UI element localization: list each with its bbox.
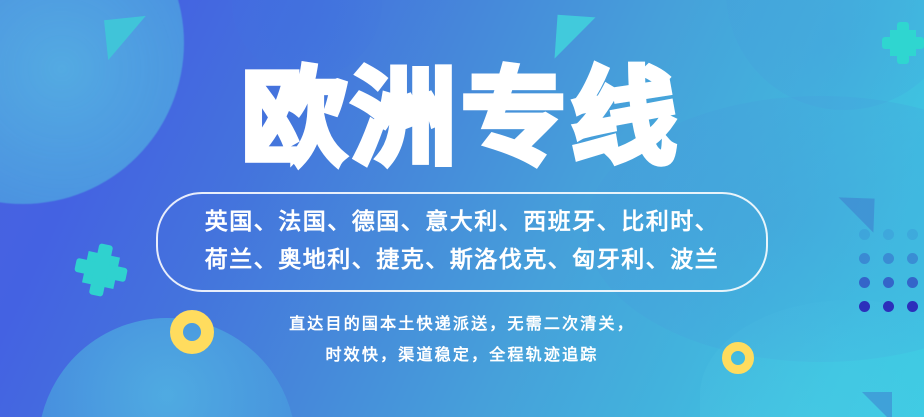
banner-tagline: 直达目的国本土快递派送，无需二次清关， 时效快，渠道稳定，全程轨迹追踪 (289, 309, 635, 371)
banner-content: 欧洲专线 英国、法国、德国、意大利、西班牙、比利时、 荷兰、奥地利、捷克、斯洛伐… (0, 0, 924, 417)
tagline-line-2: 时效快，渠道稳定，全程轨迹追踪 (289, 340, 635, 371)
europe-line-banner: 欧洲专线 英国、法国、德国、意大利、西班牙、比利时、 荷兰、奥地利、捷克、斯洛伐… (0, 0, 924, 417)
country-list-line-1: 英国、法国、德国、意大利、西班牙、比利时、 (205, 203, 720, 241)
country-list-line-2: 荷兰、奥地利、捷克、斯洛伐克、匈牙利、波兰 (205, 241, 720, 279)
banner-title: 欧洲专线 (242, 66, 682, 170)
country-list-box: 英国、法国、德国、意大利、西班牙、比利时、 荷兰、奥地利、捷克、斯洛伐克、匈牙利… (156, 192, 768, 292)
tagline-line-1: 直达目的国本土快递派送，无需二次清关， (289, 309, 635, 340)
